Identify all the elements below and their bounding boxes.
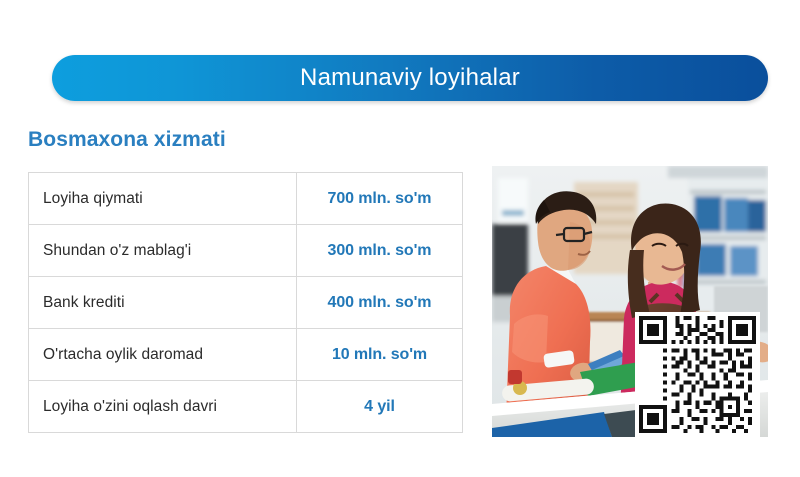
table-row: Loyiha o'zini oqlash davri 4 yil xyxy=(29,381,463,433)
table-row: Bank krediti 400 mln. so'm xyxy=(29,277,463,329)
page-title: Namunaviy loyihalar xyxy=(300,66,520,90)
qr-code[interactable] xyxy=(635,312,760,437)
project-spec-table: Loyiha qiymati 700 mln. so'm Shundan o'z… xyxy=(28,172,463,433)
spec-value: 4 yil xyxy=(297,381,463,433)
spec-label: O'rtacha oylik daromad xyxy=(29,329,297,381)
spec-label: Shundan o'z mablag'i xyxy=(29,225,297,277)
page-title-banner: Namunaviy loyihalar xyxy=(52,55,768,101)
spec-label: Loyiha o'zini oqlash davri xyxy=(29,381,297,433)
spec-label: Bank krediti xyxy=(29,277,297,329)
section-heading: Bosmaxona xizmati xyxy=(28,128,226,152)
spec-value: 700 mln. so'm xyxy=(297,173,463,225)
table-row: O'rtacha oylik daromad 10 mln. so'm xyxy=(29,329,463,381)
table-row: Shundan o'z mablag'i 300 mln. so'm xyxy=(29,225,463,277)
spec-label: Loyiha qiymati xyxy=(29,173,297,225)
spec-value: 300 mln. so'm xyxy=(297,225,463,277)
media-block xyxy=(492,166,768,437)
table-row: Loyiha qiymati 700 mln. so'm xyxy=(29,173,463,225)
spec-value: 10 mln. so'm xyxy=(297,329,463,381)
spec-value: 400 mln. so'm xyxy=(297,277,463,329)
